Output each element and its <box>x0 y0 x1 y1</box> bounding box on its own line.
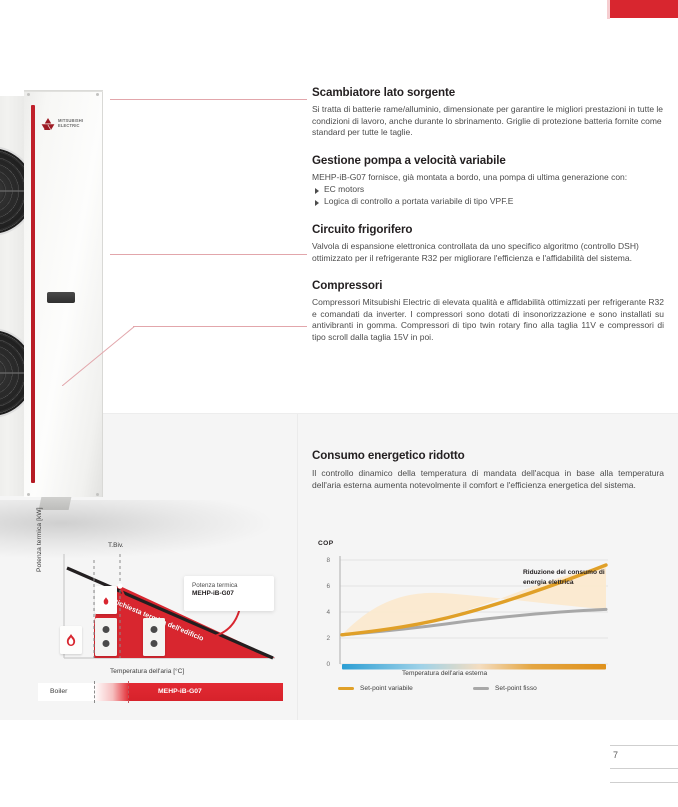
feature-section-compressori: Compressori Compressori Mitsubishi Elect… <box>312 279 664 343</box>
chart-coverage-band: Boiler MEHP-iB-G07 <box>38 683 283 701</box>
callout-leader-line-3-diagonal <box>62 326 135 386</box>
chart-panel-divider <box>297 414 298 720</box>
callout-leader-line-1 <box>110 99 307 100</box>
band-label-boiler: Boiler <box>50 688 67 695</box>
section-title: Scambiatore lato sorgente <box>312 86 664 99</box>
consumo-energetico-section: Consumo energetico ridotto Il controllo … <box>312 449 664 491</box>
section-body: Valvola di espansione elettronica contro… <box>312 241 664 264</box>
chart-annotation-riduzione: Riduzione del consumo di energia elettri… <box>523 568 615 587</box>
three-diamond-icon <box>41 118 55 131</box>
footer-rule <box>610 782 678 783</box>
unit-base-foot <box>39 497 72 510</box>
feature-section-circuito: Circuito frigorifero Valvola di espansio… <box>312 223 664 264</box>
callout-line-2: MEHP-iB-G07 <box>192 590 274 599</box>
section-title: Compressori <box>312 279 664 292</box>
section-body: Si tratta di batterie rame/alluminio, di… <box>312 104 664 139</box>
band-segment-heatpump: MEHP-iB-G07 <box>128 683 283 701</box>
legend-swatch <box>473 687 489 690</box>
callout-leader-line-2 <box>110 254 307 255</box>
band-segment-boiler: Boiler <box>38 683 94 701</box>
logo-wordmark: MITSUBISHI ELECTRIC <box>58 119 83 128</box>
compressor-dot <box>151 626 158 633</box>
band-divider-dashed <box>128 681 129 703</box>
chart-x-axis-label: Temperatura dell'aria esterna <box>402 670 487 677</box>
compressor-dot <box>103 626 110 633</box>
unit-screw <box>96 493 99 496</box>
page-number: 7 <box>613 750 618 760</box>
list-item: EC motors <box>312 184 664 196</box>
feature-section-scambiatore: Scambiatore lato sorgente Si tratta di b… <box>312 86 664 139</box>
chart-bivalent-heating-capacity: Potenza termica [kW] Temperatura dell'ar… <box>38 546 283 701</box>
band-label-heatpump: MEHP-iB-G07 <box>158 688 202 695</box>
legend-item-setpoint-variabile: Set-point variabile <box>338 685 413 692</box>
heat-pump-card-icon <box>143 618 165 656</box>
legend-item-setpoint-fisso: Set-point fisso <box>473 685 537 692</box>
list-item: Logica di controllo a portata variabile … <box>312 196 664 208</box>
unit-red-stripe <box>31 105 35 483</box>
section-body: Compressori Mitsubishi Electric di eleva… <box>312 297 664 343</box>
footer-rule <box>610 745 678 746</box>
unit-handle <box>47 292 75 303</box>
feature-text-column: Scambiatore lato sorgente Si tratta di b… <box>312 86 664 359</box>
legend-label: Set-point variabile <box>360 685 413 692</box>
compressor-dot <box>103 640 110 647</box>
section-title: Consumo energetico ridotto <box>312 449 664 462</box>
chart-callout-potenza-termica: Potenza termica MEHP-iB-G07 <box>184 576 274 611</box>
section-title: Gestione pompa a velocità variabile <box>312 154 664 167</box>
callout-leader-line-3 <box>133 326 307 327</box>
band-segment-gradient <box>94 683 128 701</box>
compressor-dot <box>151 640 158 647</box>
unit-screw <box>27 493 30 496</box>
section-title: Circuito frigorifero <box>312 223 664 236</box>
heat-pump-card-icon <box>95 618 117 656</box>
chart-cop-vs-temperature: COP 8 6 4 2 0 Riduzione de <box>318 540 618 705</box>
legend-label: Set-point fisso <box>495 685 537 692</box>
boiler-card-icon <box>95 586 117 614</box>
legend-swatch <box>338 687 354 690</box>
product-photo: MITSUBISHI ELECTRIC <box>0 30 112 522</box>
logo-line-2: ELECTRIC <box>58 124 83 129</box>
boiler-card-icon <box>60 626 82 654</box>
section-body: Il controllo dinamico della temperatura … <box>312 468 664 491</box>
section-body: MEHP-iB-G07 fornisce, già montata a bord… <box>312 172 664 184</box>
footer-rule <box>610 768 678 769</box>
unit-screw <box>27 93 30 96</box>
mitsubishi-electric-logo: MITSUBISHI ELECTRIC <box>41 114 99 134</box>
feature-section-pompa: Gestione pompa a velocità variabile MEHP… <box>312 154 664 208</box>
unit-screw <box>96 93 99 96</box>
top-accent-bar <box>610 0 678 18</box>
band-divider-dashed <box>94 681 95 703</box>
section-bullet-list: EC motors Logica di controllo a portata … <box>312 184 664 208</box>
callout-line-1: Potenza termica <box>192 582 274 590</box>
chart-legend: Set-point variabile Set-point fisso <box>318 685 618 699</box>
